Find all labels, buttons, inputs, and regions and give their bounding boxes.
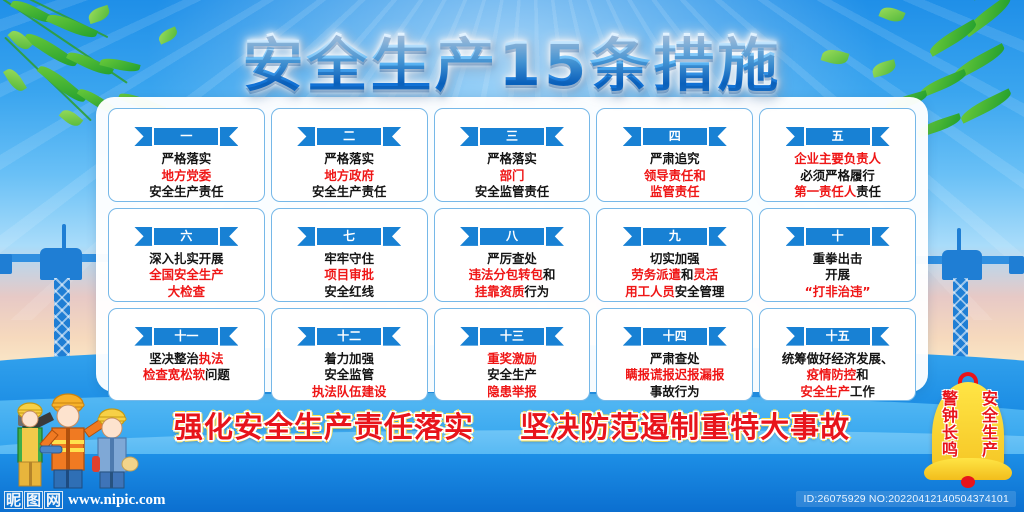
measure-text: 统筹做好经济发展、疫情防控和安全生产工作 (782, 351, 894, 401)
measure-line-segment: 和 (856, 367, 868, 382)
measure-number: 四 (641, 126, 709, 147)
measure-line: 统筹做好经济发展、 (782, 351, 894, 368)
measure-line: 瞒报谎报迟报漏报 (625, 367, 724, 384)
measure-line: 严厉查处 (469, 251, 556, 268)
measure-card[interactable]: 一严格落实地方党委安全生产责任 (108, 108, 265, 202)
measure-line: 必须严格履行 (794, 168, 881, 185)
measure-number: 七 (315, 226, 383, 247)
measure-line: 严格落实 (149, 151, 223, 168)
measure-text: 深入扎实开展全国安全生产大检查 (149, 251, 223, 301)
measure-card[interactable]: 十二着力加强安全监管执法队伍建设 (271, 308, 428, 402)
measure-line-text: 着力加强 (324, 351, 374, 366)
measure-line-text: 牢牢守住 (324, 251, 374, 266)
measure-line-segment: 违法分包转包 (469, 267, 543, 282)
bell-text-left: 警钟长鸣 (940, 390, 956, 458)
measure-line-text: 必须严格履行 (800, 168, 874, 183)
measure-line: 牢牢守住 (324, 251, 374, 268)
measure-number: 十三 (478, 326, 546, 347)
measure-number: 三 (478, 126, 546, 147)
measure-line: 切实加强 (625, 251, 724, 268)
measure-text: 严厉查处违法分包转包和挂靠资质行为 (469, 251, 556, 301)
measure-text: 着力加强安全监管执法队伍建设 (312, 351, 386, 401)
slogan-left: 强化安全生产责任落实 (174, 410, 474, 444)
measure-number: 九 (641, 226, 709, 247)
measure-line: 重拳出击 (805, 251, 871, 268)
measure-text: 严肃追究领导责任和监管责任 (644, 151, 706, 201)
measure-text: 重奖激励安全生产隐患举报 (487, 351, 537, 401)
measure-text: 严格落实地方党委安全生产责任 (149, 151, 223, 201)
nipic-logo-char: 图 (24, 491, 43, 509)
measure-line-text: 严肃查处 (650, 351, 700, 366)
measure-line: “打非治违” (805, 284, 871, 301)
measure-line-text: 安全监管责任 (475, 184, 549, 199)
measure-line: 疫情防控和 (782, 367, 894, 384)
ribbon-banner: 九 (623, 226, 727, 247)
measure-text: 严格落实地方政府安全生产责任 (312, 151, 386, 201)
measure-line-segment: 和 (681, 267, 693, 282)
measure-line-segment: 工作 (850, 384, 875, 399)
measure-line-segment: 用工人员 (625, 284, 675, 299)
measure-line-segment: 疫情防控 (807, 367, 857, 382)
ribbon-banner: 十二 (297, 326, 401, 347)
measure-line-segment: 和 (543, 267, 555, 282)
measure-text: 企业主要负责人必须严格履行第一责任人责任 (794, 151, 881, 201)
measure-line: 领导责任和 (644, 168, 706, 185)
measure-number: 一 (152, 126, 220, 147)
measure-line: 劳务派遣和灵活 (625, 267, 724, 284)
measure-number: 十二 (315, 326, 383, 347)
measure-line-text: 重拳出击 (813, 251, 863, 266)
measure-line: 地方政府 (312, 168, 386, 185)
ribbon-banner: 五 (786, 126, 890, 147)
measure-line-text: 重奖激励 (487, 351, 537, 366)
measure-line-text: 安全生产 (487, 367, 537, 382)
measure-line: 安全监管 (312, 367, 386, 384)
measure-line-text: 项目审批 (324, 267, 374, 282)
nipic-logo: 昵图网 (4, 491, 63, 509)
nipic-logo-char: 昵 (4, 491, 23, 509)
measure-number: 十五 (804, 326, 872, 347)
measure-card[interactable]: 十五统筹做好经济发展、疫情防控和安全生产工作 (759, 308, 916, 402)
measure-line-text: 安全生产责任 (149, 184, 223, 199)
watermark: 昵图网 www.nipic.com (4, 491, 166, 509)
measure-text: 严肃查处瞒报谎报迟报漏报事故行为 (625, 351, 724, 401)
measure-line: 严肃查处 (625, 351, 724, 368)
measure-card[interactable]: 五企业主要负责人必须严格履行第一责任人责任 (759, 108, 916, 202)
measure-line-text: “打非治违” (805, 284, 871, 299)
measure-number: 十 (804, 226, 872, 247)
measure-line-segment: 安全生产 (800, 384, 850, 399)
measure-line: 违法分包转包和 (469, 267, 556, 284)
measure-line-segment: 问题 (205, 367, 230, 382)
measure-text: 重拳出击开展“打非治违” (805, 251, 871, 301)
measure-card[interactable]: 十三重奖激励安全生产隐患举报 (434, 308, 591, 402)
measure-line: 安全生产责任 (149, 184, 223, 201)
ribbon-banner: 十四 (623, 326, 727, 347)
measure-line: 监管责任 (644, 184, 706, 201)
measure-line: 安全监管责任 (475, 184, 549, 201)
measure-line: 严格落实 (312, 151, 386, 168)
measure-line-segment: 责任 (856, 184, 881, 199)
measure-line-text: 统筹做好经济发展、 (782, 351, 894, 366)
measures-panel: 一严格落实地方党委安全生产责任二严格落实地方政府安全生产责任三严格落实部门安全监… (96, 97, 928, 392)
measure-number: 六 (152, 226, 220, 247)
measure-line: 安全红线 (324, 284, 374, 301)
measure-line: 项目审批 (324, 267, 374, 284)
measure-line: 企业主要负责人 (794, 151, 881, 168)
measure-line-segment: 执法 (199, 351, 224, 366)
measure-line: 大检查 (149, 284, 223, 301)
ribbon-banner: 十一 (134, 326, 238, 347)
measure-number: 二 (315, 126, 383, 147)
measure-line-text: 严格落实 (162, 151, 212, 166)
ribbon-banner: 三 (460, 126, 564, 147)
measure-line: 开展 (805, 267, 871, 284)
measure-text: 严格落实部门安全监管责任 (475, 151, 549, 201)
measure-line-text: 部门 (500, 168, 525, 183)
measure-card[interactable]: 四严肃追究领导责任和监管责任 (596, 108, 753, 202)
measure-card[interactable]: 六深入扎实开展全国安全生产大检查 (108, 208, 265, 302)
measure-line: 执法队伍建设 (312, 384, 386, 401)
measure-line-text: 企业主要负责人 (794, 151, 881, 166)
ribbon-banner: 八 (460, 226, 564, 247)
measure-line: 用工人员安全管理 (625, 284, 724, 301)
ribbon-banner: 二 (297, 126, 401, 147)
measure-line: 部门 (475, 168, 549, 185)
measure-text: 切实加强劳务派遣和灵活用工人员安全管理 (625, 251, 724, 301)
measure-line-text: 大检查 (168, 284, 205, 299)
ribbon-banner: 十 (786, 226, 890, 247)
measure-line-text: 切实加强 (650, 251, 700, 266)
image-id-tag: ID:26075929 NO:20220412140504374101 (796, 491, 1016, 507)
measure-line-text: 执法队伍建设 (312, 384, 386, 399)
measure-line-text: 监管责任 (650, 184, 700, 199)
poster-canvas: 安全生产15条措施 一严格落实地方党委安全生产责任二严格落实地方政府安全生产责任… (0, 0, 1024, 512)
nipic-logo-char: 网 (44, 491, 63, 509)
measure-number: 五 (804, 126, 872, 147)
measure-line-text: 安全生产责任 (312, 184, 386, 199)
footer-bar: 昵图网 www.nipic.com ID:26075929 NO:2022041… (0, 482, 1024, 512)
bell-text-right: 安全生产 (980, 390, 996, 458)
measure-number: 十四 (641, 326, 709, 347)
measure-line-text: 全国安全生产 (149, 267, 223, 282)
measure-card[interactable]: 九切实加强劳务派遣和灵活用工人员安全管理 (596, 208, 753, 302)
measure-line-text: 瞒报谎报迟报漏报 (625, 367, 724, 382)
measure-text: 牢牢守住项目审批安全红线 (324, 251, 374, 301)
measure-line: 着力加强 (312, 351, 386, 368)
alarm-bell-icon: 安全生产 警钟长鸣 (920, 370, 1016, 490)
measure-line-text: 深入扎实开展 (149, 251, 223, 266)
ribbon-banner: 四 (623, 126, 727, 147)
measure-line-text: 开展 (825, 267, 850, 282)
poster-title-area: 安全生产15条措施 (0, 14, 1024, 103)
measure-line: 坚决整治执法 (143, 351, 230, 368)
measure-line-text: 事故行为 (650, 384, 700, 399)
measure-line: 安全生产 (487, 367, 537, 384)
measure-line-text: 严厉查处 (487, 251, 537, 266)
measure-line: 严肃追究 (644, 151, 706, 168)
measure-line-segment: 安全管理 (675, 284, 725, 299)
measure-line: 地方党委 (149, 168, 223, 185)
ribbon-banner: 十三 (460, 326, 564, 347)
measure-card[interactable]: 十四严肃查处瞒报谎报迟报漏报事故行为 (596, 308, 753, 402)
ribbon-banner: 十五 (786, 326, 890, 347)
measure-line-text: 严格落实 (487, 151, 537, 166)
measure-line-segment: 灵活 (693, 267, 718, 282)
measure-line: 安全生产责任 (312, 184, 386, 201)
measure-line: 事故行为 (625, 384, 724, 401)
measure-line-text: 领导责任和 (644, 168, 706, 183)
measure-line-segment: 劳务派遣 (631, 267, 681, 282)
measure-line-segment: 挂靠资质 (475, 284, 525, 299)
measure-line-text: 严格落实 (324, 151, 374, 166)
measure-line-text: 地方党委 (162, 168, 212, 183)
measure-card[interactable]: 三严格落实部门安全监管责任 (434, 108, 591, 202)
ribbon-banner: 一 (134, 126, 238, 147)
measure-line: 第一责任人责任 (794, 184, 881, 201)
measure-card[interactable]: 二严格落实地方政府安全生产责任 (271, 108, 428, 202)
watermark-url: www.nipic.com (68, 492, 166, 509)
measure-card[interactable]: 八严厉查处违法分包转包和挂靠资质行为 (434, 208, 591, 302)
measure-line-text: 地方政府 (324, 168, 374, 183)
measure-line-text: 安全红线 (324, 284, 374, 299)
measure-line-text: 隐患举报 (487, 384, 537, 399)
measure-line: 隐患举报 (487, 384, 537, 401)
measure-number: 十一 (152, 326, 220, 347)
ribbon-banner: 六 (134, 226, 238, 247)
measure-line: 挂靠资质行为 (469, 284, 556, 301)
measure-line: 全国安全生产 (149, 267, 223, 284)
measure-line: 安全生产工作 (782, 384, 894, 401)
measure-card[interactable]: 十重拳出击开展“打非治违” (759, 208, 916, 302)
measure-line: 严格落实 (475, 151, 549, 168)
measure-card[interactable]: 七牢牢守住项目审批安全红线 (271, 208, 428, 302)
measure-line-segment: 坚决整治 (149, 351, 199, 366)
slogan-right: 坚决防范遏制重特大事故 (520, 410, 850, 444)
bottom-slogan: 强化安全生产责任落实 坚决防范遏制重特大事故 (0, 404, 1024, 446)
measure-line-segment: 第一责任人 (794, 184, 856, 199)
measure-line: 深入扎实开展 (149, 251, 223, 268)
measure-number: 八 (478, 226, 546, 247)
measure-line-segment: 行为 (524, 284, 549, 299)
measure-line: 重奖激励 (487, 351, 537, 368)
page-title: 安全生产15条措施 (233, 14, 792, 103)
ribbon-banner: 七 (297, 226, 401, 247)
measures-grid: 一严格落实地方党委安全生产责任二严格落实地方政府安全生产责任三严格落实部门安全监… (96, 97, 928, 392)
measure-line-text: 安全监管 (324, 367, 374, 382)
measure-line-text: 严肃追究 (650, 151, 700, 166)
